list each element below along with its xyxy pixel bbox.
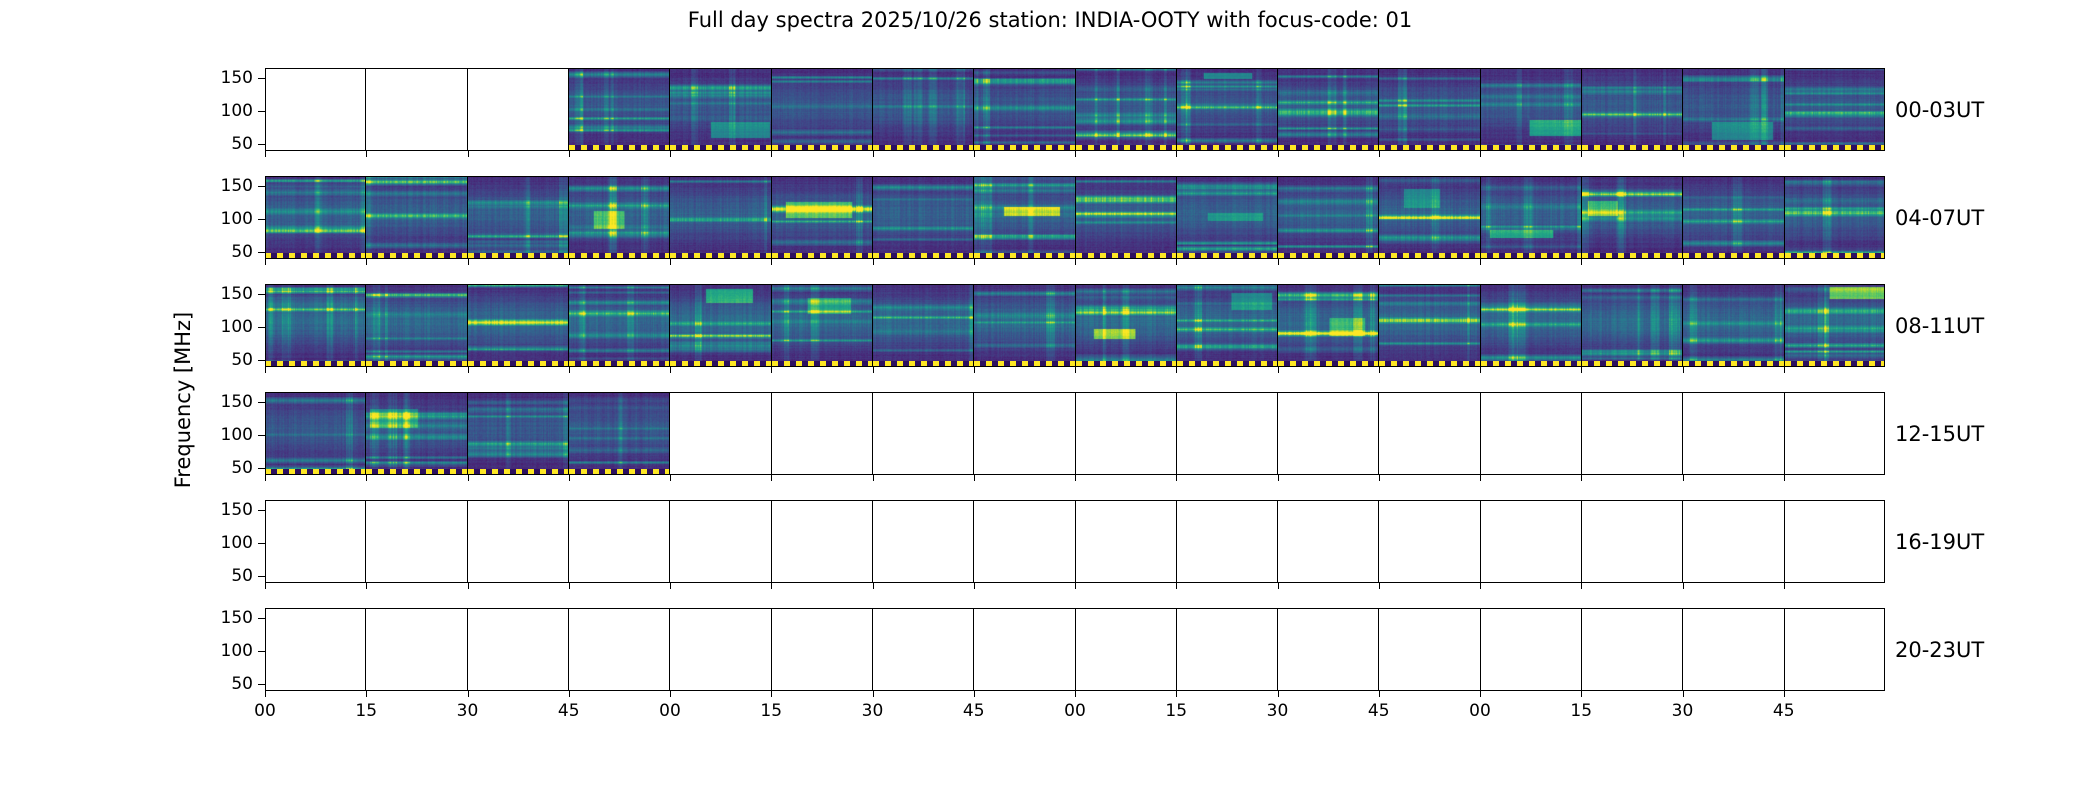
x-axis-tick	[1480, 691, 1481, 697]
x-axis-tick	[1075, 151, 1076, 157]
spectrogram-subpanel[interactable]	[670, 608, 771, 691]
x-axis-tick	[1480, 151, 1481, 157]
y-axis-tick-label: 100	[221, 101, 253, 121]
spectrogram-subpanel[interactable]	[1582, 608, 1683, 691]
x-axis-tick	[366, 151, 367, 157]
x-axis-tick	[670, 367, 671, 373]
x-axis-tick	[569, 583, 570, 589]
x-axis-tick	[366, 475, 367, 481]
frequency-marker-line	[1683, 361, 1783, 367]
spectrogram-subpanel[interactable]	[1582, 392, 1683, 475]
x-axis-tick	[1581, 583, 1582, 589]
spectrogram-subpanel[interactable]	[1582, 284, 1683, 367]
frequency-marker-line	[1379, 361, 1479, 367]
x-axis-tick	[468, 151, 469, 157]
spectrogram-subpanel[interactable]	[1076, 68, 1177, 151]
x-axis-tick	[1581, 259, 1582, 265]
spectrogram-image	[1379, 68, 1479, 151]
x-axis-tick	[670, 691, 671, 697]
spectrogram-subpanel[interactable]	[772, 500, 873, 583]
spectrogram-subpanel[interactable]	[1379, 176, 1480, 259]
frequency-marker-line	[1177, 361, 1277, 367]
spectrogram-subpanel[interactable]	[1076, 608, 1177, 691]
spectrogram-row-16-19ut[interactable]: 50100150	[265, 500, 1885, 583]
x-axis-tick	[771, 151, 772, 157]
spectrogram-subpanel[interactable]	[873, 500, 974, 583]
frequency-marker-line	[1177, 145, 1277, 151]
spectrogram-subpanel[interactable]	[1278, 176, 1379, 259]
spectrogram-image	[772, 68, 872, 151]
frequency-marker-line	[1278, 361, 1378, 367]
frequency-marker-line	[1785, 145, 1885, 151]
spectrogram-image	[772, 284, 872, 367]
spectrogram-subpanel[interactable]	[1785, 284, 1885, 367]
spectrogram-subpanel[interactable]	[670, 176, 771, 259]
spectrogram-subpanel[interactable]	[1379, 284, 1480, 367]
y-axis-tick	[258, 186, 265, 187]
frequency-marker-line	[366, 469, 466, 475]
x-axis-tick	[1784, 583, 1785, 589]
frequency-marker-line	[1683, 253, 1783, 259]
spectrogram-subpanel[interactable]	[265, 608, 366, 691]
x-axis-tick	[569, 367, 570, 373]
spectrogram-subpanel[interactable]	[366, 68, 467, 151]
frequency-marker-line	[1481, 253, 1581, 259]
spectrogram-subpanel[interactable]	[1683, 608, 1784, 691]
spectrogram-subpanel[interactable]	[1379, 68, 1480, 151]
spectrogram-row-12-15ut[interactable]: 50100150	[265, 392, 1885, 475]
spectrogram-subpanel[interactable]	[569, 176, 670, 259]
frequency-marker-line	[1582, 361, 1682, 367]
spectrogram-image	[265, 176, 365, 259]
x-axis-tick	[1581, 367, 1582, 373]
spectrogram-image	[366, 392, 466, 475]
spectrogram-subpanel[interactable]	[468, 392, 569, 475]
spectrogram-image	[1177, 68, 1277, 151]
spectrogram-subpanel[interactable]	[468, 284, 569, 367]
x-axis-tick-label: 30	[1267, 701, 1289, 721]
spectrogram-subpanel[interactable]	[1481, 68, 1582, 151]
row-subpanels	[265, 284, 1885, 367]
spectrogram-image	[569, 176, 669, 259]
x-axis-tick	[1278, 367, 1279, 373]
frequency-marker-line	[1582, 145, 1682, 151]
x-axis-tick	[1278, 583, 1279, 589]
x-axis-tick	[873, 583, 874, 589]
y-axis-tick-label: 50	[231, 350, 253, 370]
y-axis-tick	[258, 294, 265, 295]
spectrogram-subpanel[interactable]	[1278, 608, 1379, 691]
y-axis-tick	[258, 618, 265, 619]
y-axis-tick-label: 100	[221, 641, 253, 661]
spectrogram-subpanel[interactable]	[1785, 608, 1885, 691]
x-axis-tick	[1581, 475, 1582, 481]
x-axis-tick	[670, 475, 671, 481]
y-axis-tick-label: 150	[221, 176, 253, 196]
frequency-marker-line	[1076, 145, 1176, 151]
x-axis-tick	[366, 583, 367, 589]
spectrogram-subpanel[interactable]	[772, 68, 873, 151]
x-axis-tick	[569, 151, 570, 157]
x-axis-tick	[1784, 259, 1785, 265]
row-subpanels	[265, 68, 1885, 151]
x-axis-tick-label: 15	[760, 701, 782, 721]
x-axis-tick	[974, 259, 975, 265]
spectrogram-subpanel[interactable]	[1177, 608, 1278, 691]
spectrogram-subpanel[interactable]	[265, 284, 366, 367]
spectrogram-subpanel[interactable]	[772, 176, 873, 259]
spectrogram-subpanel[interactable]	[1076, 392, 1177, 475]
x-axis-tick	[1278, 691, 1279, 697]
row-time-label-08-11ut: 08-11UT	[1895, 314, 1984, 338]
frequency-marker-line	[1278, 145, 1378, 151]
spectrogram-image	[1177, 284, 1277, 367]
spectrogram-image	[1785, 68, 1885, 151]
spectrogram-subpanel[interactable]	[974, 68, 1075, 151]
x-axis-tick-label: 30	[1672, 701, 1694, 721]
spectrogram-subpanel[interactable]	[1683, 392, 1784, 475]
spectrogram-row-00-03ut[interactable]: 50100150	[265, 68, 1885, 151]
y-axis-tick-label: 150	[221, 608, 253, 628]
x-axis-tick	[1278, 151, 1279, 157]
spectrogram-image	[1076, 176, 1176, 259]
spectrogram-subpanel[interactable]	[873, 176, 974, 259]
x-axis-tick-label: 15	[1570, 701, 1592, 721]
frequency-marker-line	[366, 253, 466, 259]
row-time-label-04-07ut: 04-07UT	[1895, 206, 1984, 230]
x-axis-tick	[468, 583, 469, 589]
y-axis-tick-label: 150	[221, 68, 253, 88]
x-axis-tick	[1075, 367, 1076, 373]
y-axis-tick-label: 150	[221, 284, 253, 304]
frequency-marker-line	[873, 361, 973, 367]
spectrogram-subpanel[interactable]	[366, 500, 467, 583]
spectrogram-subpanel[interactable]	[569, 284, 670, 367]
x-axis-tick	[468, 475, 469, 481]
row-subpanels	[265, 608, 1885, 691]
spectrogram-subpanel[interactable]	[366, 392, 467, 475]
y-axis-tick	[258, 684, 265, 685]
spectrogram-subpanel[interactable]	[873, 608, 974, 691]
spectrogram-subpanel[interactable]	[366, 608, 467, 691]
spectrogram-image	[1278, 284, 1378, 367]
frequency-marker-line	[974, 253, 1074, 259]
frequency-marker-line	[1076, 361, 1176, 367]
spectrogram-subpanel[interactable]	[974, 392, 1075, 475]
spectrogram-subpanel[interactable]	[1278, 392, 1379, 475]
spectrogram-subpanel[interactable]	[1278, 500, 1379, 583]
frequency-marker-line	[1683, 145, 1783, 151]
frequency-marker-line	[1177, 253, 1277, 259]
spectrogram-subpanel[interactable]	[1278, 68, 1379, 151]
spectrogram-subpanel[interactable]	[1379, 608, 1480, 691]
y-axis-tick	[258, 435, 265, 436]
frequency-marker-line	[265, 469, 365, 475]
frequency-marker-line	[873, 253, 973, 259]
x-axis-tick	[670, 583, 671, 589]
x-axis-tick	[265, 583, 266, 589]
y-axis-tick	[258, 360, 265, 361]
x-axis-tick	[468, 691, 469, 697]
y-axis-tick-label: 50	[231, 458, 253, 478]
frequency-marker-line	[1076, 253, 1176, 259]
y-axis-tick	[258, 111, 265, 112]
spectrogram-subpanel[interactable]	[468, 176, 569, 259]
y-axis-tick-label: 100	[221, 209, 253, 229]
frequency-marker-line	[468, 253, 568, 259]
spectrogram-subpanel[interactable]	[569, 608, 670, 691]
spectrogram-subpanel[interactable]	[366, 284, 467, 367]
x-axis-tick	[1379, 691, 1380, 697]
spectrogram-subpanel[interactable]	[1076, 284, 1177, 367]
spectrogram-subpanel[interactable]	[1582, 176, 1683, 259]
spectrogram-subpanel[interactable]	[670, 392, 771, 475]
spectrogram-subpanel[interactable]	[265, 392, 366, 475]
spectrogram-image	[366, 284, 466, 367]
x-axis-tick	[1683, 475, 1684, 481]
spectrogram-subpanel[interactable]	[772, 392, 873, 475]
y-axis-tick-label: 150	[221, 392, 253, 412]
spectrogram-subpanel[interactable]	[1481, 392, 1582, 475]
x-axis-tick-label: 45	[963, 701, 985, 721]
spectrogram-subpanel[interactable]	[569, 392, 670, 475]
spectrogram-subpanel[interactable]	[265, 176, 366, 259]
spectrogram-subpanel[interactable]	[468, 608, 569, 691]
x-axis-tick	[1176, 691, 1177, 697]
x-axis-tick	[771, 367, 772, 373]
spectrogram-image	[1379, 284, 1479, 367]
spectrogram-subpanel[interactable]	[974, 176, 1075, 259]
x-axis-tick	[771, 259, 772, 265]
spectrogram-subpanel[interactable]	[1177, 500, 1278, 583]
spectrogram-image	[974, 284, 1074, 367]
spectrogram-subpanel[interactable]	[1177, 68, 1278, 151]
frequency-marker-line	[569, 145, 669, 151]
spectrogram-subpanel[interactable]	[974, 284, 1075, 367]
frequency-marker-line	[873, 145, 973, 151]
spectrogram-subpanel[interactable]	[974, 608, 1075, 691]
spectrogram-subpanel[interactable]	[366, 176, 467, 259]
spectrogram-subpanel[interactable]	[1481, 284, 1582, 367]
x-axis-tick	[1379, 475, 1380, 481]
spectrogram-subpanel[interactable]	[670, 68, 771, 151]
frequency-marker-line	[670, 145, 770, 151]
spectrogram-subpanel[interactable]	[468, 500, 569, 583]
spectrogram-subpanel[interactable]	[1076, 500, 1177, 583]
x-axis-tick	[1379, 151, 1380, 157]
row-time-label-20-23ut: 20-23UT	[1895, 638, 1984, 662]
spectrogram-subpanel[interactable]	[772, 608, 873, 691]
x-axis-tick-label: 45	[558, 701, 580, 721]
x-axis-tick	[265, 151, 266, 157]
x-axis-tick	[1784, 691, 1785, 697]
x-axis-tick	[1176, 367, 1177, 373]
spectrogram-subpanel[interactable]	[265, 68, 366, 151]
spectrogram-subpanel[interactable]	[772, 284, 873, 367]
row-time-label-12-15ut: 12-15UT	[1895, 422, 1984, 446]
frequency-marker-line	[1278, 253, 1378, 259]
x-axis-tick-label: 45	[1368, 701, 1390, 721]
y-axis-tick	[258, 219, 265, 220]
x-axis-tick	[1176, 259, 1177, 265]
spectrogram-subpanel[interactable]	[873, 284, 974, 367]
x-axis-tick	[974, 691, 975, 697]
frequency-marker-line	[1379, 145, 1479, 151]
spectrogram-subpanel[interactable]	[1785, 176, 1885, 259]
frequency-marker-line	[974, 361, 1074, 367]
x-axis-tick	[1480, 475, 1481, 481]
spectrogram-subpanel[interactable]	[974, 500, 1075, 583]
x-axis-tick	[265, 475, 266, 481]
spectrogram-subpanel[interactable]	[569, 500, 670, 583]
spectrogram-image	[1278, 176, 1378, 259]
spectrogram-subpanel[interactable]	[1278, 284, 1379, 367]
x-axis-tick	[1683, 691, 1684, 697]
x-axis-tick	[1278, 259, 1279, 265]
spectrogram-row-08-11ut[interactable]: 50100150	[265, 284, 1885, 367]
frequency-marker-line	[1785, 253, 1885, 259]
frequency-marker-line	[468, 361, 568, 367]
frequency-marker-line	[468, 469, 568, 475]
x-axis-tick	[265, 259, 266, 265]
spectrogram-subpanel[interactable]	[265, 500, 366, 583]
spectrogram-image	[873, 284, 973, 367]
spectrogram-subpanel[interactable]	[1481, 500, 1582, 583]
row-time-label-16-19ut: 16-19UT	[1895, 530, 1984, 554]
spectrogram-subpanel[interactable]	[1177, 176, 1278, 259]
row-subpanels	[265, 500, 1885, 583]
x-axis-tick	[771, 691, 772, 697]
spectrogram-image	[772, 176, 872, 259]
x-axis-tick	[974, 151, 975, 157]
x-axis-tick	[1075, 259, 1076, 265]
x-axis-tick	[1683, 367, 1684, 373]
x-axis-tick	[468, 259, 469, 265]
spectrogram-subpanel[interactable]	[1379, 392, 1480, 475]
spectrogram-image	[1582, 68, 1682, 151]
spectrogram-image	[1076, 284, 1176, 367]
spectrogram-subpanel[interactable]	[1785, 68, 1885, 151]
row-subpanels	[265, 176, 1885, 259]
x-axis-tick	[1683, 259, 1684, 265]
spectrogram-subpanel[interactable]	[1582, 500, 1683, 583]
spectrogram-subpanel[interactable]	[1785, 500, 1885, 583]
x-axis-tick-label: 30	[457, 701, 479, 721]
x-axis-tick	[873, 151, 874, 157]
frequency-marker-line	[1481, 361, 1581, 367]
y-axis-tick-label: 50	[231, 242, 253, 262]
spectrogram-image	[1683, 68, 1783, 151]
spectrogram-image	[873, 176, 973, 259]
spectrogram-subpanel[interactable]	[569, 68, 670, 151]
x-axis-tick-label: 45	[1773, 701, 1795, 721]
spectrogram-image	[974, 176, 1074, 259]
x-axis-tick-label: 00	[1064, 701, 1086, 721]
spectrogram-subpanel[interactable]	[1481, 176, 1582, 259]
spectrogram-subpanel[interactable]	[1379, 500, 1480, 583]
spectrogram-subpanel[interactable]	[670, 500, 771, 583]
x-axis-tick	[1480, 367, 1481, 373]
x-axis-tick	[569, 475, 570, 481]
row-time-label-00-03ut: 00-03UT	[1895, 98, 1984, 122]
spectrogram-image	[1481, 176, 1581, 259]
spectrogram-image	[1683, 176, 1783, 259]
frequency-marker-line	[1481, 145, 1581, 151]
y-axis-tick	[258, 402, 265, 403]
spectrogram-image	[569, 392, 669, 475]
x-axis-tick	[1379, 367, 1380, 373]
x-axis-tick-label: 30	[862, 701, 884, 721]
y-axis-tick	[258, 327, 265, 328]
x-axis-tick	[1176, 151, 1177, 157]
spectrogram-subpanel[interactable]	[1177, 284, 1278, 367]
spectrogram-subpanel[interactable]	[1683, 68, 1784, 151]
y-axis-tick	[258, 78, 265, 79]
x-axis-tick	[569, 259, 570, 265]
spectrogram-image	[1481, 68, 1581, 151]
x-axis-tick	[873, 259, 874, 265]
spectrogram-subpanel[interactable]	[1076, 176, 1177, 259]
y-axis-tick	[258, 144, 265, 145]
y-axis-tick-label: 50	[231, 674, 253, 694]
frequency-marker-line	[569, 469, 669, 475]
x-axis-tick-label: 15	[355, 701, 377, 721]
spectrogram-subpanel[interactable]	[873, 392, 974, 475]
y-axis-tick	[258, 252, 265, 253]
frequency-marker-line	[670, 253, 770, 259]
x-axis-tick	[670, 151, 671, 157]
y-axis-tick	[258, 576, 265, 577]
frequency-marker-line	[1582, 253, 1682, 259]
x-axis-tick	[974, 367, 975, 373]
spectrogram-row-04-07ut[interactable]: 50100150	[265, 176, 1885, 259]
spectrogram-subpanel[interactable]	[1785, 392, 1885, 475]
spectrogram-image	[1683, 284, 1783, 367]
frequency-marker-line	[569, 361, 669, 367]
x-axis-tick-label: 00	[1469, 701, 1491, 721]
y-axis-tick-label: 100	[221, 317, 253, 337]
spectrogram-image	[670, 176, 770, 259]
spectrogram-subpanel[interactable]	[1177, 392, 1278, 475]
spectrogram-subpanel[interactable]	[1683, 284, 1784, 367]
spectrogram-image	[569, 284, 669, 367]
spectrogram-row-20-23ut[interactable]: 5010015000153045001530450015304500153045	[265, 608, 1885, 691]
page-title: Full day spectra 2025/10/26 station: IND…	[0, 8, 2100, 32]
spectrogram-image	[1582, 284, 1682, 367]
spectrogram-image	[1379, 176, 1479, 259]
spectrogram-image	[1582, 176, 1682, 259]
frequency-marker-line	[1785, 361, 1885, 367]
spectrogram-subpanel[interactable]	[468, 68, 569, 151]
x-axis-tick-label: 00	[659, 701, 681, 721]
spectrogram-image	[569, 68, 669, 151]
spectrogram-subpanel[interactable]	[1683, 500, 1784, 583]
frequency-marker-line	[1379, 253, 1479, 259]
spectrogram-subpanel[interactable]	[873, 68, 974, 151]
x-axis-tick	[1176, 583, 1177, 589]
x-axis-tick	[771, 475, 772, 481]
spectrogram-image	[468, 176, 568, 259]
x-axis-tick	[1784, 475, 1785, 481]
frequency-marker-line	[366, 361, 466, 367]
x-axis-tick	[974, 583, 975, 589]
spectrogram-subpanel[interactable]	[1481, 608, 1582, 691]
spectrogram-subpanel[interactable]	[670, 284, 771, 367]
x-axis-tick	[873, 691, 874, 697]
spectrogram-subpanel[interactable]	[1582, 68, 1683, 151]
x-axis-tick	[366, 259, 367, 265]
spectrogram-subpanel[interactable]	[1683, 176, 1784, 259]
